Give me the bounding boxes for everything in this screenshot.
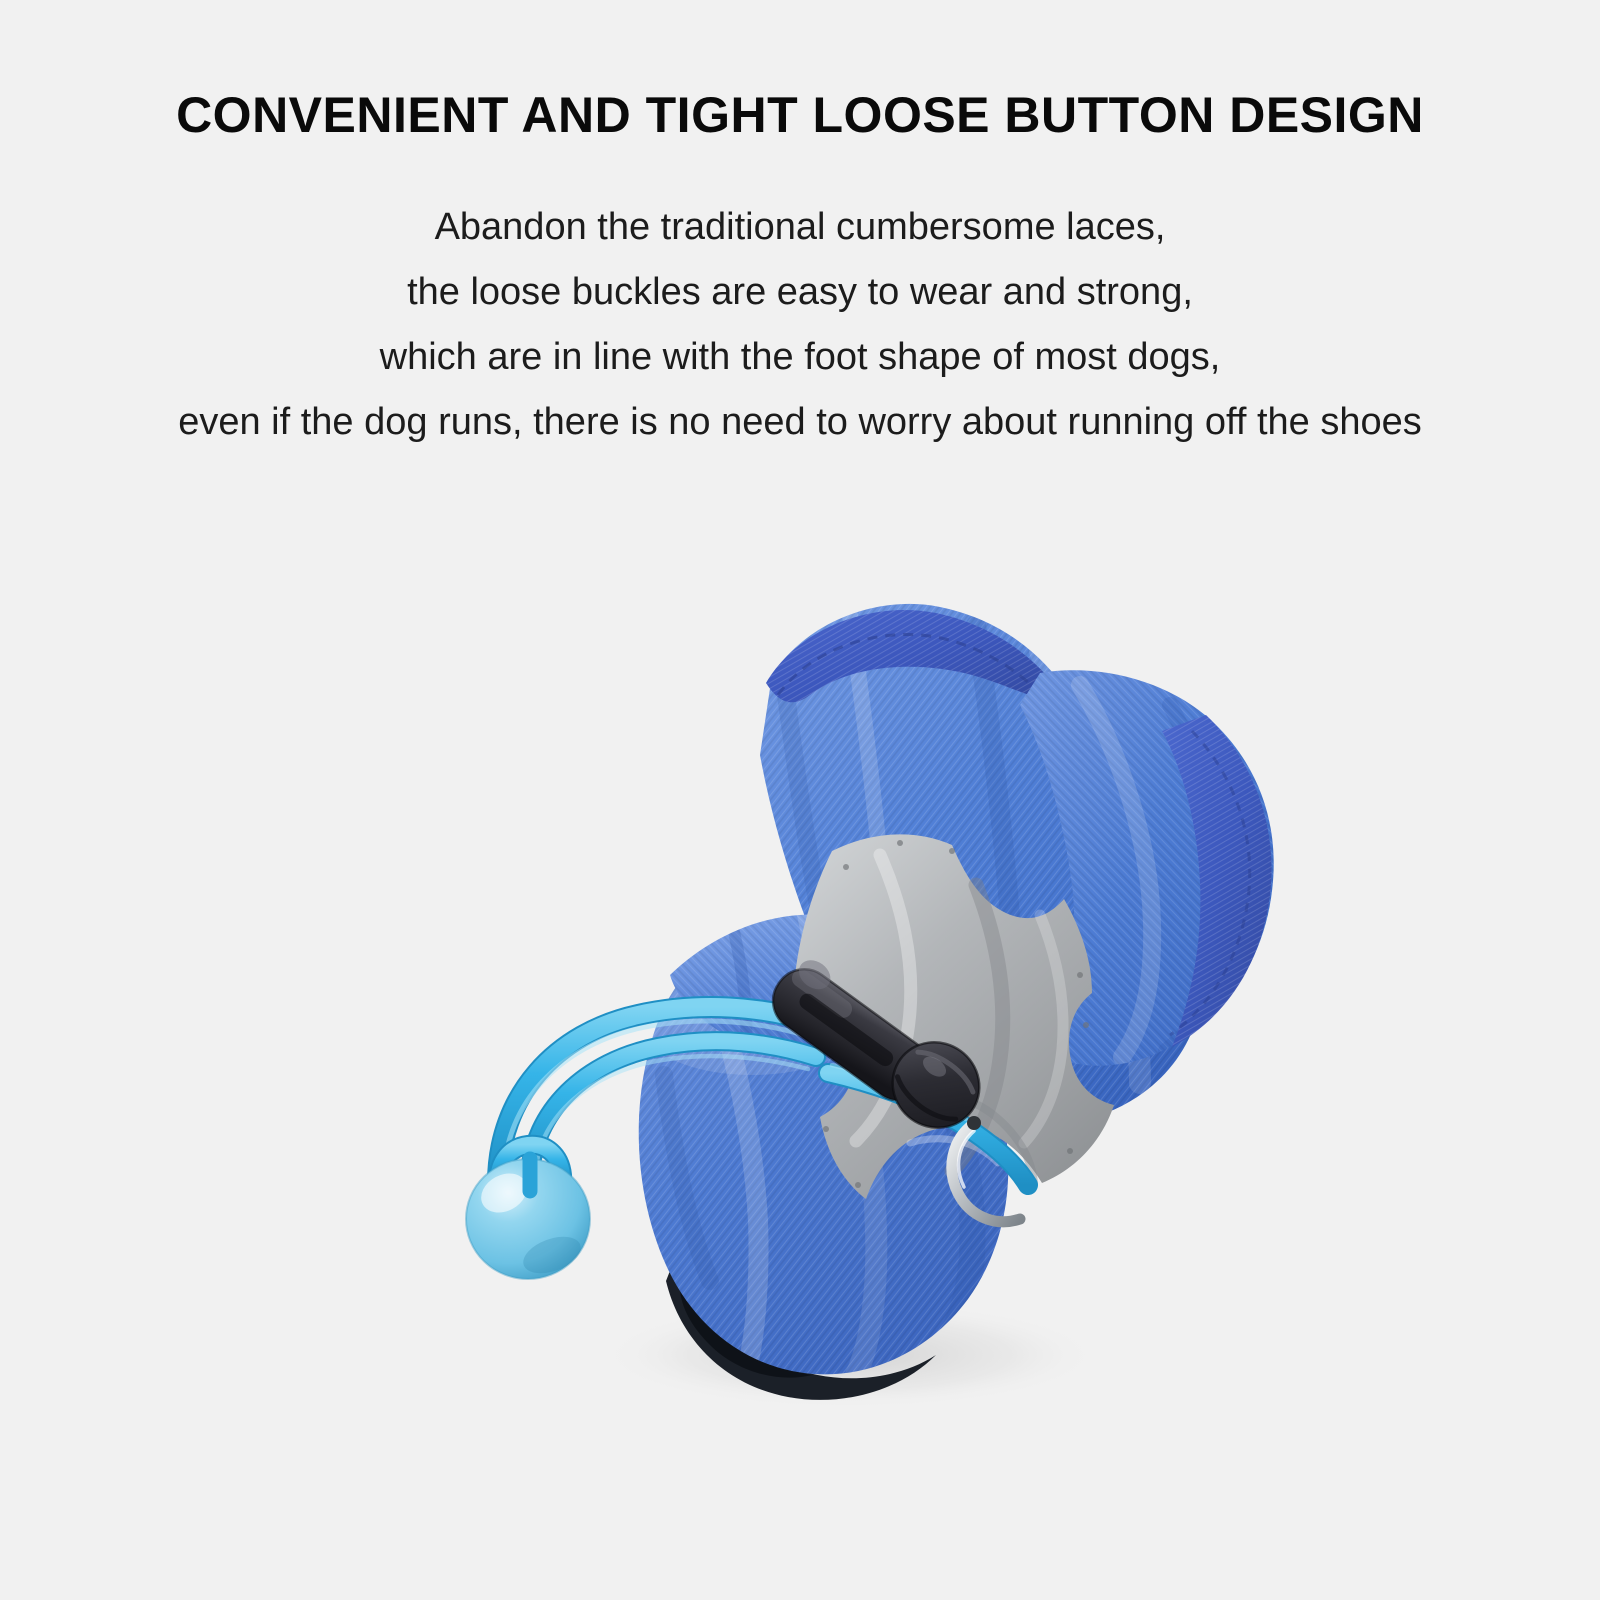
description-line-4: even if the dog runs, there is no need t…: [0, 390, 1600, 455]
dog-boot-illustration: [380, 555, 1300, 1445]
description-line-1: Abandon the traditional cumbersome laces…: [0, 195, 1600, 260]
page-title: CONVENIENT AND TIGHT LOOSE BUTTON DESIGN: [0, 0, 1600, 143]
description-line-3: which are in line with the foot shape of…: [0, 325, 1600, 390]
product-feature-panel: CONVENIENT AND TIGHT LOOSE BUTTON DESIGN…: [0, 0, 1600, 1600]
product-photo: [380, 555, 1300, 1445]
description-line-2: the loose buckles are easy to wear and s…: [0, 260, 1600, 325]
description-paragraph: Abandon the traditional cumbersome laces…: [0, 143, 1600, 455]
text-block: CONVENIENT AND TIGHT LOOSE BUTTON DESIGN…: [0, 0, 1600, 455]
cord-bead[interactable]: [466, 1145, 590, 1281]
